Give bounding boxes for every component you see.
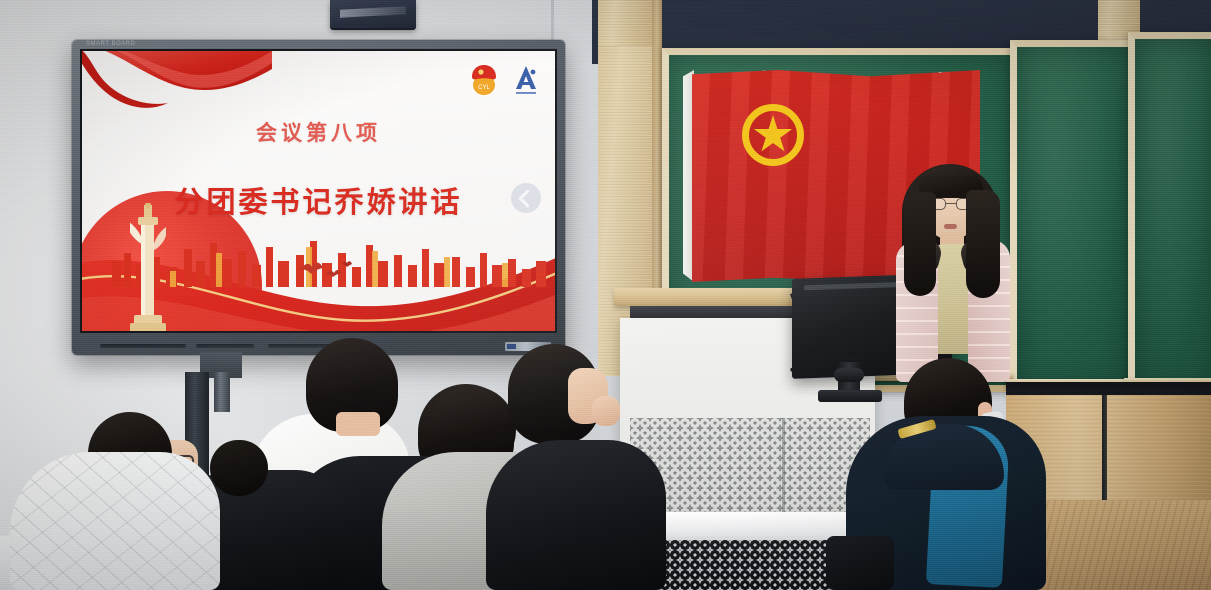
- monitor-base: [818, 390, 882, 402]
- wood-panel-upper: [598, 0, 654, 46]
- classroom-photo: SMART BOARD: [0, 0, 1211, 590]
- webcam-icon: [834, 368, 864, 382]
- monument-graphic: [130, 203, 166, 331]
- presenter-mouth: [944, 224, 957, 229]
- student-dark-coat-hand: [592, 396, 620, 426]
- display-speaker-slit-left: [100, 344, 186, 348]
- presentation-slide: 会议第八项 分团委书记乔娇讲话 CYL: [82, 51, 555, 331]
- interactive-flat-panel-display[interactable]: SMART BOARD: [72, 40, 565, 355]
- presenter-figure: [890, 156, 1014, 388]
- student-dark-coat-body: [486, 440, 666, 590]
- wall-mounted-speaker-icon: [330, 0, 416, 30]
- svg-text:CYL: CYL: [478, 85, 490, 91]
- university-a-logo-icon: [511, 63, 541, 97]
- display-mount-pole: [214, 372, 230, 412]
- presenter-hair-left: [904, 192, 936, 296]
- chalkboard-panel-2: [1010, 40, 1136, 399]
- display-screen[interactable]: 会议第八项 分团委书记乔娇讲话 CYL: [80, 49, 557, 333]
- display-brand-label: SMART BOARD: [86, 41, 135, 47]
- slide-logo-group: CYL: [469, 63, 541, 97]
- student-white-shirt-neck: [336, 412, 380, 436]
- youth-league-badge-logo-icon: CYL: [469, 63, 499, 97]
- wood-panel-right-a: [1098, 0, 1140, 36]
- student-marble-jacket-body: [10, 452, 220, 590]
- slide-nav-prev-icon[interactable]: [511, 183, 541, 213]
- flying-birds-graphic: [298, 258, 354, 284]
- chair-back: [826, 536, 894, 590]
- slide-subtitle: 会议第八项: [82, 117, 555, 147]
- chalkboard-panel-3: [1128, 32, 1211, 398]
- student-dark-hoodie-head: [210, 440, 268, 496]
- presenter-hair-right: [966, 190, 1000, 298]
- slide-title: 分团委书记乔娇讲话: [82, 179, 555, 221]
- display-speaker-slit-mid: [196, 344, 254, 348]
